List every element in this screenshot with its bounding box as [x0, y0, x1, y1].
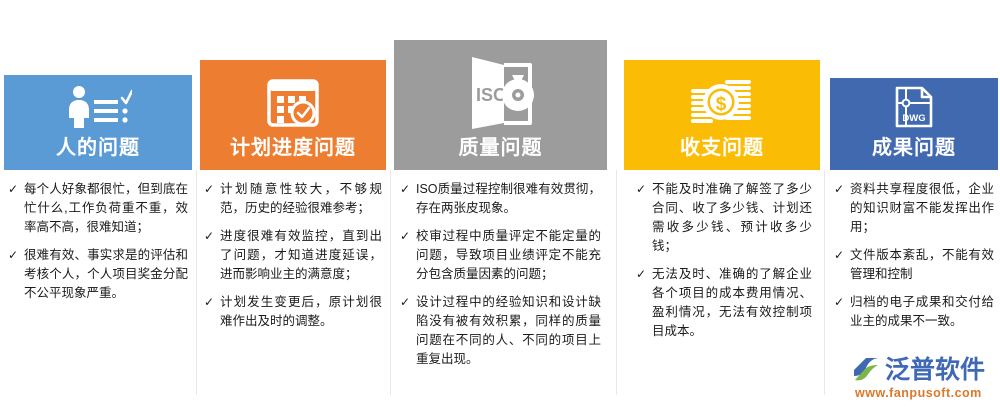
bullet-list-finance: ✓ 不能及时准确了解签了多少合同、收了多少钱、计划还需收多少钱、预计收多少钱； …: [624, 180, 820, 350]
list-item-text: 每个人好象都很忙，但到底在忙什么,工作负荷重不重，效率高不高，很难知道；: [24, 180, 188, 237]
check-icon: ✓: [400, 227, 413, 246]
list-item: ✓ 不能及时准确了解签了多少合同、收了多少钱、计划还需收多少钱、预计收多少钱；: [636, 180, 812, 256]
panel-title-people: 人的问题: [56, 138, 140, 170]
list-item-text: 进度很难有效监控，直到出了问题，才知道进度延误，进而影响业主的满意度；: [220, 227, 382, 284]
list-item-text: 很难有效、事实求是的评估和考核个人，个人项目奖金分配不公平现象严重。: [24, 246, 188, 303]
bullet-list-quality: ✓ ISO质量过程控制很难有效贯彻，存在两张皮现象。 ✓ 校审过程中质量评定不能…: [394, 180, 607, 378]
column-divider: [616, 170, 617, 395]
list-item-text: 无法及时、准确的了解企业各个项目的成本费用情况、盈利情况，无法有效控制项目成本。: [652, 265, 812, 341]
list-item: ✓ ISO质量过程控制很难有效贯彻，存在两张皮现象。: [400, 180, 601, 218]
list-item: ✓ 计划发生变更后，原计划很难作出及时的调整。: [204, 293, 382, 331]
check-icon: ✓: [636, 180, 649, 199]
list-item-text: 计划随意性较大，不够规范，历史的经验很难参考；: [220, 180, 382, 218]
bullet-list-schedule: ✓ 计划随意性较大，不够规范，历史的经验很难参考； ✓ 进度很难有效监控，直到出…: [200, 180, 386, 340]
infographic-page: 人的问题 ✓ 每个人好象都很忙，但到底在忙什么,工作负荷重不重，效率高不高，很难…: [0, 0, 1000, 410]
panel-header-finance[interactable]: $ 收支问题: [624, 60, 820, 170]
panel-title-quality: 质量问题: [459, 138, 543, 170]
column-quality: ISO 质量问题 ✓ ISO质量过程控制很难有效贯彻，存在两张皮现象。 ✓ 校审…: [394, 0, 607, 410]
check-icon: ✓: [204, 293, 217, 312]
dwg-file-icon: DWG: [891, 85, 937, 134]
check-icon: ✓: [834, 246, 847, 265]
check-icon: ✓: [834, 293, 847, 312]
column-divider: [196, 170, 197, 395]
column-divider: [390, 170, 391, 395]
list-item-text: ISO质量过程控制很难有效贯彻，存在两张皮现象。: [416, 180, 601, 218]
list-item: ✓ 每个人好象都很忙，但到底在忙什么,工作负荷重不重，效率高不高，很难知道；: [8, 180, 188, 237]
list-item-text: 不能及时准确了解签了多少合同、收了多少钱、计划还需收多少钱、预计收多少钱；: [652, 180, 812, 256]
person-checklist-icon: [64, 85, 132, 134]
list-item-text: 设计过程中的经验知识和设计缺陷没有被有效积累，同样的质量问题在不同的人、不同的项…: [416, 293, 601, 369]
check-icon: ✓: [400, 293, 413, 312]
panel-header-people[interactable]: 人的问题: [4, 75, 192, 170]
check-icon: ✓: [8, 246, 21, 265]
list-item: ✓ 无法及时、准确的了解企业各个项目的成本费用情况、盈利情况，无法有效控制项目成…: [636, 265, 812, 341]
list-item-text: 计划发生变更后，原计划很难作出及时的调整。: [220, 293, 382, 331]
brand-logo-main: 泛普软件: [852, 356, 985, 384]
panel-title-deliverable: 成果问题: [872, 138, 956, 170]
list-item: ✓ 资料共享程度很低，企业的知识财富不能发挥出作用；: [834, 180, 994, 237]
list-item-text: 资料共享程度很低，企业的知识财富不能发挥出作用；: [850, 180, 994, 237]
panel-title-finance: 收支问题: [680, 138, 764, 170]
column-schedule: 计划进度问题 ✓ 计划随意性较大，不够规范，历史的经验很难参考； ✓ 进度很难有…: [200, 0, 386, 410]
list-item: ✓ 计划随意性较大，不够规范，历史的经验很难参考；: [204, 180, 382, 218]
money-coins-icon: $: [685, 75, 759, 134]
list-item-text: 归档的电子成果和交付给业主的成果不一致。: [850, 293, 994, 331]
check-icon: ✓: [8, 180, 21, 199]
list-item-text: 校审过程中质量评定不能定量的问题，导致项目业绩评定不能充分包含质量因素的问题；: [416, 227, 601, 284]
column-divider: [824, 170, 825, 395]
bullet-list-people: ✓ 每个人好象都很忙，但到底在忙什么,工作负荷重不重，效率高不高，很难知道； ✓…: [4, 180, 192, 312]
brand-logo[interactable]: 泛普软件 www.fanpusoft.com: [852, 356, 992, 404]
column-finance: $ 收支问题 ✓ 不能及时准确了解签了多少合同、收了多少钱、计划还需收多少钱、预…: [624, 0, 820, 410]
bullet-list-deliverable: ✓ 资料共享程度很低，企业的知识财富不能发挥出作用； ✓ 文件版本紊乱，不能有效…: [830, 180, 998, 340]
dwg-icon-label: DWG: [902, 113, 925, 124]
column-deliverable: DWG 成果问题 ✓ 资料共享程度很低，企业的知识财富不能发挥出作用； ✓ 文件…: [830, 0, 998, 410]
iso-disc-icon: ISO: [458, 53, 544, 134]
panel-title-schedule: 计划进度问题: [230, 138, 356, 170]
check-icon: ✓: [834, 180, 847, 199]
list-item: ✓ 进度很难有效监控，直到出了问题，才知道进度延误，进而影响业主的满意度；: [204, 227, 382, 284]
svg-text:$: $: [716, 94, 727, 115]
panel-header-quality[interactable]: ISO 质量问题: [394, 40, 607, 170]
list-item-text: 文件版本紊乱，不能有效管理和控制: [850, 246, 994, 284]
brand-name: 泛普软件: [885, 356, 985, 384]
fanpu-swoosh-icon: [852, 356, 882, 384]
check-icon: ✓: [204, 180, 217, 199]
list-item: ✓ 设计过程中的经验知识和设计缺陷没有被有效积累，同样的质量问题在不同的人、不同…: [400, 293, 601, 369]
check-icon: ✓: [636, 265, 649, 284]
brand-url: www.fanpusoft.com: [855, 386, 982, 400]
list-item: ✓ 校审过程中质量评定不能定量的问题，导致项目业绩评定不能充分包含质量因素的问题…: [400, 227, 601, 284]
check-icon: ✓: [400, 180, 413, 199]
panel-header-deliverable[interactable]: DWG 成果问题: [830, 78, 998, 170]
panel-header-schedule[interactable]: 计划进度问题: [200, 60, 386, 170]
list-item: ✓ 文件版本紊乱，不能有效管理和控制: [834, 246, 994, 284]
list-item: ✓ 归档的电子成果和交付给业主的成果不一致。: [834, 293, 994, 331]
check-icon: ✓: [204, 227, 217, 246]
list-item: ✓ 很难有效、事实求是的评估和考核个人，个人项目奖金分配不公平现象严重。: [8, 246, 188, 303]
column-people: 人的问题 ✓ 每个人好象都很忙，但到底在忙什么,工作负荷重不重，效率高不高，很难…: [4, 0, 192, 410]
calendar-check-icon: [265, 75, 321, 134]
